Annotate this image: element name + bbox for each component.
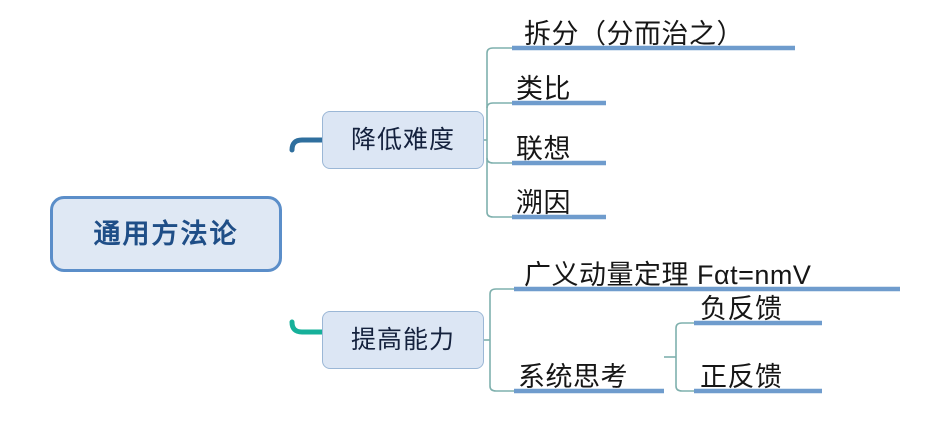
trunk-connector — [282, 140, 322, 332]
branch-node-improve-ability[interactable]: 提高能力 — [322, 311, 484, 369]
leaf-node-label: 系统思考 — [518, 363, 628, 391]
root-node[interactable]: 通用方法论 — [50, 196, 282, 272]
mind-map-canvas: 通用方法论 降低难度 提高能力 拆分（分而治之） 类比 联想 溯因 广义动量定理… — [0, 0, 952, 428]
leaf-node-systems-thinking[interactable]: 系统思考 — [518, 351, 628, 391]
leaf-node-negative-feedback[interactable]: 负反馈 — [700, 284, 783, 323]
leaf-node-abduction[interactable]: 溯因 — [516, 178, 571, 217]
branch-1-connectors — [484, 48, 512, 217]
root-node-label: 通用方法论 — [94, 221, 239, 248]
subbranch-systems-thinking-connectors — [664, 323, 694, 391]
leaf-node-generalized-momentum-theorem[interactable]: 广义动量定理 Fαt=nmV — [524, 249, 811, 289]
leaf-node-label: 正反馈 — [700, 363, 783, 391]
leaf-node-positive-feedback[interactable]: 正反馈 — [700, 352, 783, 391]
leaf-node-analogy[interactable]: 类比 — [516, 64, 571, 103]
leaf-node-association[interactable]: 联想 — [516, 124, 571, 163]
branch-node-label: 提高能力 — [351, 328, 455, 353]
leaf-node-label: 拆分（分而治之） — [524, 20, 744, 48]
leaf-node-label: 类比 — [516, 75, 571, 103]
branch-node-reduce-difficulty[interactable]: 降低难度 — [322, 111, 484, 169]
branch-node-label: 降低难度 — [351, 128, 455, 153]
leaf-node-split[interactable]: 拆分（分而治之） — [524, 8, 744, 48]
branch-2-connectors — [484, 289, 514, 391]
leaf-node-label: 溯因 — [516, 189, 571, 217]
leaf-node-label: 负反馈 — [700, 295, 783, 323]
leaf-node-label: 联想 — [516, 135, 571, 163]
